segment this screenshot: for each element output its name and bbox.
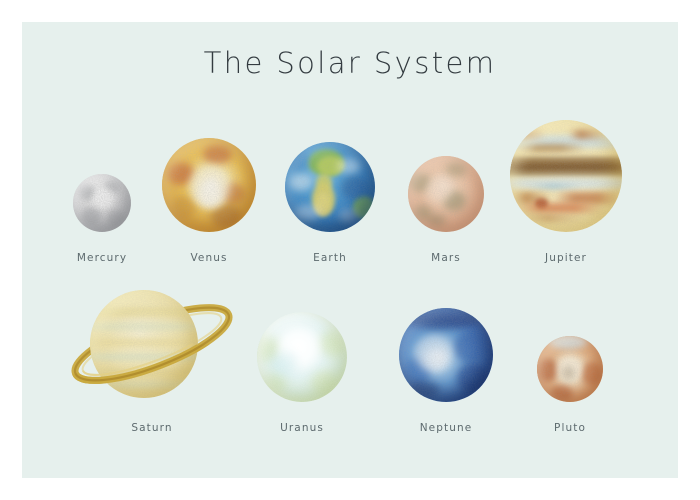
mars-orb-wrap	[408, 156, 484, 232]
neptune-label: Neptune	[420, 422, 473, 434]
mercury-orb	[73, 174, 131, 232]
pluto-orb	[537, 336, 603, 402]
mercury-label: Mercury	[77, 252, 127, 264]
uranus-orb	[257, 312, 347, 402]
saturn-label: Saturn	[131, 422, 172, 434]
jupiter-orb-wrap	[510, 120, 622, 232]
mars-orb	[408, 156, 484, 232]
earth-orb	[285, 142, 375, 232]
jupiter-orb	[510, 120, 622, 232]
neptune-orb	[399, 308, 493, 402]
venus-orb-wrap	[162, 138, 256, 232]
earth-orb-wrap	[285, 142, 375, 232]
pluto-label: Pluto	[554, 422, 586, 434]
saturn-ring-front	[66, 282, 238, 406]
saturn-orb-wrap	[66, 282, 238, 406]
mercury-orb-wrap	[73, 174, 131, 232]
jupiter-label: Jupiter	[545, 252, 587, 264]
neptune-orb-wrap	[399, 308, 493, 402]
uranus-orb-wrap	[257, 312, 347, 402]
venus-label: Venus	[190, 252, 227, 264]
venus-orb	[162, 138, 256, 232]
mars-label: Mars	[431, 252, 461, 264]
page-title: The Solar System	[0, 46, 700, 80]
pluto-orb-wrap	[537, 336, 603, 402]
poster-panel	[22, 22, 678, 478]
solar-system-poster: The Solar System Mercury	[0, 0, 700, 500]
earth-label: Earth	[313, 252, 347, 264]
uranus-label: Uranus	[280, 422, 324, 434]
